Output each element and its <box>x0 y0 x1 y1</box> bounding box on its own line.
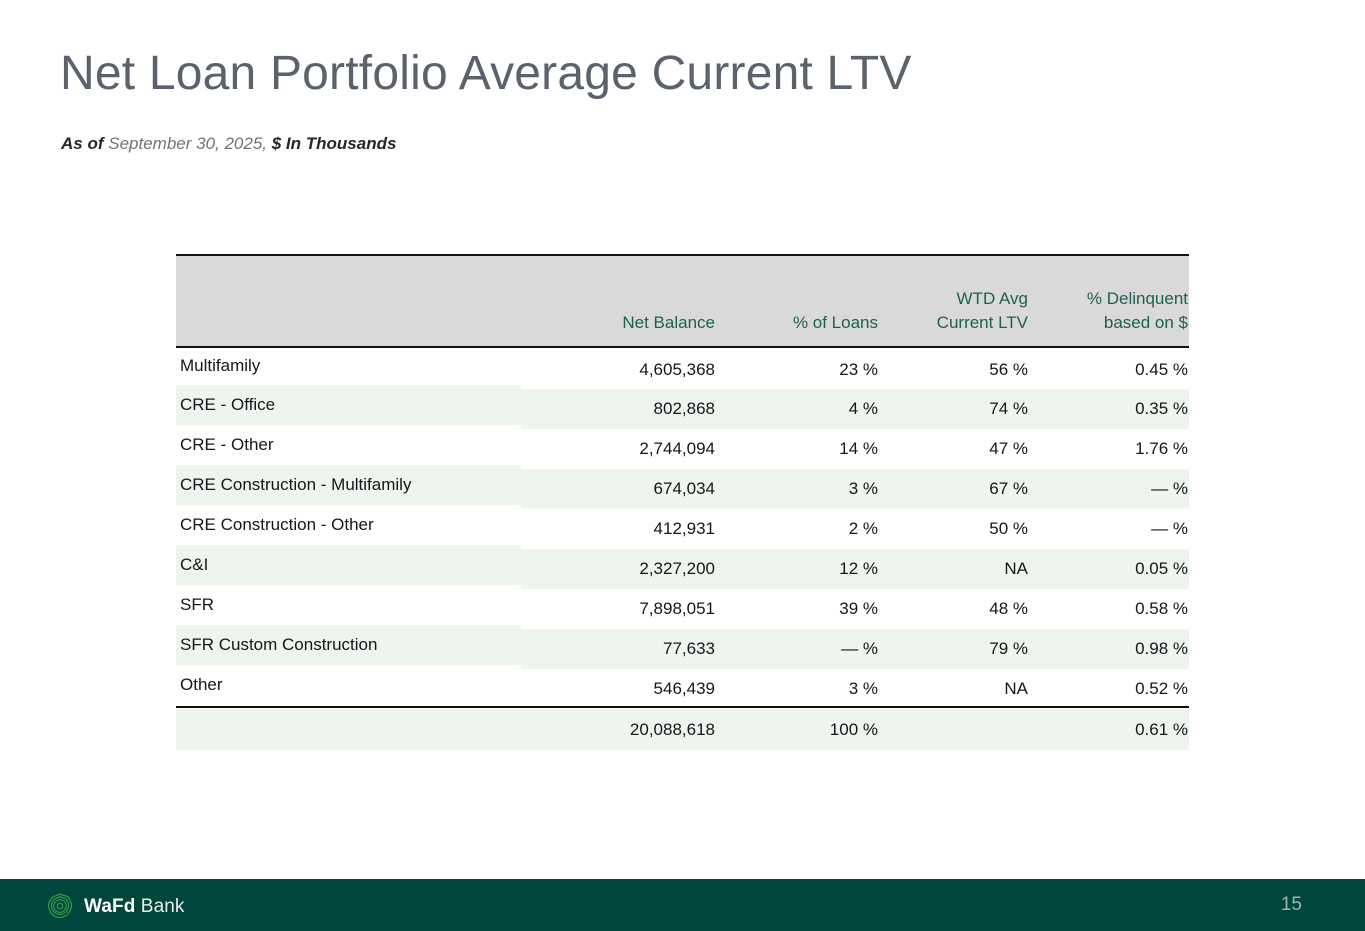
total-wtd-avg-current-ltv <box>879 708 1029 750</box>
cell-net-balance: 2,327,200 <box>521 549 716 589</box>
table-row: SFR 7,898,051 39 % 48 % 0.58 % <box>176 587 1189 627</box>
row-label: CRE Construction - Multifamily <box>176 465 521 505</box>
cell-wtd-avg-current-ltv: 67 % <box>879 469 1029 509</box>
cell-wtd-avg-current-ltv: 56 % <box>879 349 1029 389</box>
cell-wtd-avg-current-ltv: 47 % <box>879 429 1029 469</box>
cell-wtd-avg-current-ltv: 79 % <box>879 629 1029 669</box>
cell-pct-of-loans: 2 % <box>716 509 879 549</box>
footer-bar <box>0 879 1365 931</box>
table-row: CRE Construction - Multifamily 674,034 3… <box>176 467 1189 507</box>
cell-pct-of-loans: 12 % <box>716 549 879 589</box>
cell-net-balance: 412,931 <box>521 509 716 549</box>
cell-pct-delinquent: 0.45 % <box>1029 349 1189 389</box>
cell-pct-of-loans: — % <box>716 629 879 669</box>
total-label <box>176 708 521 750</box>
table-row: CRE - Other 2,744,094 14 % 47 % 1.76 % <box>176 427 1189 467</box>
brand-name: WaFd Bank <box>84 897 185 916</box>
cell-pct-of-loans: 23 % <box>716 349 879 389</box>
column-header-category <box>176 255 521 347</box>
cell-wtd-avg-current-ltv: NA <box>879 549 1029 589</box>
row-label: Multifamily <box>176 345 521 385</box>
cell-pct-delinquent: 0.05 % <box>1029 549 1189 589</box>
brand-name-primary: WaFd <box>84 896 135 917</box>
row-label: SFR <box>176 585 521 625</box>
cell-net-balance: 802,868 <box>521 389 716 429</box>
ltv-table-container: Net Balance % of Loans WTD Avg Current L… <box>176 254 1189 749</box>
brand-logo: WaFd Bank <box>45 891 185 921</box>
column-header-pct-of-loans: % of Loans <box>716 255 879 347</box>
subtitle-date: September 30, 2025, <box>108 134 267 153</box>
row-label: C&I <box>176 545 521 585</box>
brand-name-secondary: Bank <box>135 896 184 917</box>
row-label: CRE Construction - Other <box>176 505 521 545</box>
table-row: SFR Custom Construction 77,633 — % 79 % … <box>176 627 1189 667</box>
cell-pct-of-loans: 39 % <box>716 589 879 629</box>
row-label: CRE - Office <box>176 385 521 425</box>
cell-pct-delinquent: — % <box>1029 509 1189 549</box>
ltv-table: Net Balance % of Loans WTD Avg Current L… <box>176 254 1189 749</box>
cell-net-balance: 7,898,051 <box>521 589 716 629</box>
cell-pct-delinquent: 0.35 % <box>1029 389 1189 429</box>
table-row: C&I 2,327,200 12 % NA 0.05 % <box>176 547 1189 587</box>
cell-wtd-avg-current-ltv: 74 % <box>879 389 1029 429</box>
wafd-knot-logo-icon <box>45 891 75 921</box>
column-header-pct-delinquent: % Delinquent based on $ <box>1029 255 1189 347</box>
total-pct-of-loans: 100 % <box>716 708 879 750</box>
cell-pct-delinquent: 0.58 % <box>1029 589 1189 629</box>
cell-pct-of-loans: 3 % <box>716 669 879 709</box>
cell-pct-of-loans: 14 % <box>716 429 879 469</box>
table-total-row: 20,088,618 100 % 0.61 % <box>176 707 1189 749</box>
slide: Net Loan Portfolio Average Current LTV A… <box>0 0 1365 931</box>
cell-net-balance: 77,633 <box>521 629 716 669</box>
table-row: CRE - Office 802,868 4 % 74 % 0.35 % <box>176 387 1189 427</box>
cell-wtd-avg-current-ltv: 50 % <box>879 509 1029 549</box>
total-pct-delinquent: 0.61 % <box>1029 708 1189 750</box>
cell-pct-delinquent: 1.76 % <box>1029 429 1189 469</box>
cell-pct-delinquent: — % <box>1029 469 1189 509</box>
row-label: SFR Custom Construction <box>176 625 521 665</box>
cell-pct-delinquent: 0.98 % <box>1029 629 1189 669</box>
cell-net-balance: 2,744,094 <box>521 429 716 469</box>
row-label: CRE - Other <box>176 425 521 465</box>
subtitle-lead: As of <box>61 134 108 153</box>
table-row: CRE Construction - Other 412,931 2 % 50 … <box>176 507 1189 547</box>
column-header-wtd-avg-current-ltv: WTD Avg Current LTV <box>879 255 1029 347</box>
cell-net-balance: 4,605,368 <box>521 349 716 389</box>
table-row: Multifamily 4,605,368 23 % 56 % 0.45 % <box>176 347 1189 387</box>
table-header-row: Net Balance % of Loans WTD Avg Current L… <box>176 255 1189 347</box>
cell-net-balance: 674,034 <box>521 469 716 509</box>
cell-net-balance: 546,439 <box>521 669 716 709</box>
row-label: Other <box>176 665 521 705</box>
cell-wtd-avg-current-ltv: NA <box>879 669 1029 709</box>
page-title: Net Loan Portfolio Average Current LTV <box>60 46 912 101</box>
page-number: 15 <box>1281 894 1302 916</box>
cell-pct-delinquent: 0.52 % <box>1029 669 1189 709</box>
cell-pct-of-loans: 3 % <box>716 469 879 509</box>
table-head: Net Balance % of Loans WTD Avg Current L… <box>176 255 1189 347</box>
column-header-net-balance: Net Balance <box>521 255 716 347</box>
table-row: Other 546,439 3 % NA 0.52 % <box>176 667 1189 707</box>
total-net-balance: 20,088,618 <box>521 708 716 750</box>
table-body: Multifamily 4,605,368 23 % 56 % 0.45 % C… <box>176 347 1189 749</box>
slide-subtitle: As of September 30, 2025, $ In Thousands <box>61 134 396 154</box>
subtitle-units: $ In Thousands <box>267 134 396 153</box>
cell-wtd-avg-current-ltv: 48 % <box>879 589 1029 629</box>
cell-pct-of-loans: 4 % <box>716 389 879 429</box>
